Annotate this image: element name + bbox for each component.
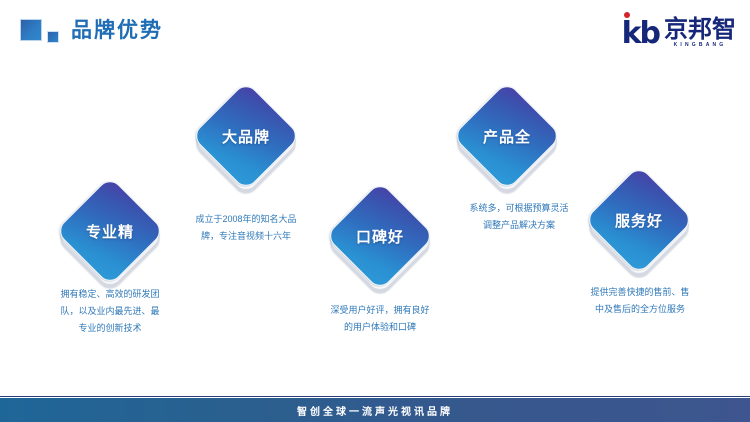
brand-logo: kb 京邦智 KINGBANG — [622, 15, 736, 49]
advantage-label-1: 专业精 — [55, 176, 165, 286]
advantage-caption-2: 成立于2008年的知名大品 牌，专注音视频十六年 — [171, 211, 321, 245]
advantage-label-3: 口碑好 — [325, 181, 435, 291]
page-title: 品牌优势 — [71, 16, 163, 46]
decor-square-small-icon — [47, 31, 59, 43]
logo-chinese-block: 京邦智 KINGBANG — [664, 17, 736, 49]
footer-divider — [0, 396, 750, 397]
advantage-label-4: 产品全 — [452, 81, 562, 191]
advantage-caption-5: 提供完善快捷的售前、售 中及售后的全方位服务 — [565, 284, 715, 318]
diamond-shape-1: 专业精 — [55, 176, 165, 286]
logo-mark-text: kb — [622, 19, 659, 49]
diamond-shape-4: 产品全 — [452, 81, 562, 191]
logo-chinese-text: 京邦智 — [664, 17, 736, 42]
diamond-shape-5: 服务好 — [584, 165, 694, 275]
advantage-caption-1: 拥有稳定、高效的研发团 队，以及业内最先进、最 专业的创新技术 — [35, 286, 185, 337]
decor-square-large-icon — [20, 19, 42, 41]
logo-english-text: KINGBANG — [674, 42, 727, 49]
advantage-caption-4: 系统多，可根据预算灵活 调整产品解决方案 — [444, 200, 594, 234]
advantage-label-2: 大品牌 — [191, 81, 301, 191]
advantage-label-5: 服务好 — [584, 165, 694, 275]
diamond-shape-2: 大品牌 — [191, 81, 301, 191]
diamond-shape-3: 口碑好 — [325, 181, 435, 291]
footer-slogan: 智创全球一流声光视讯品牌 — [0, 398, 750, 422]
logo-dot-icon — [624, 12, 630, 18]
slide-root: 品牌优势 kb 京邦智 KINGBANG 专业精 拥有稳定、高效的研发团 队，以… — [0, 0, 750, 422]
advantage-caption-3: 深受用户好评，拥有良好 的用户体验和口碑 — [305, 302, 455, 336]
